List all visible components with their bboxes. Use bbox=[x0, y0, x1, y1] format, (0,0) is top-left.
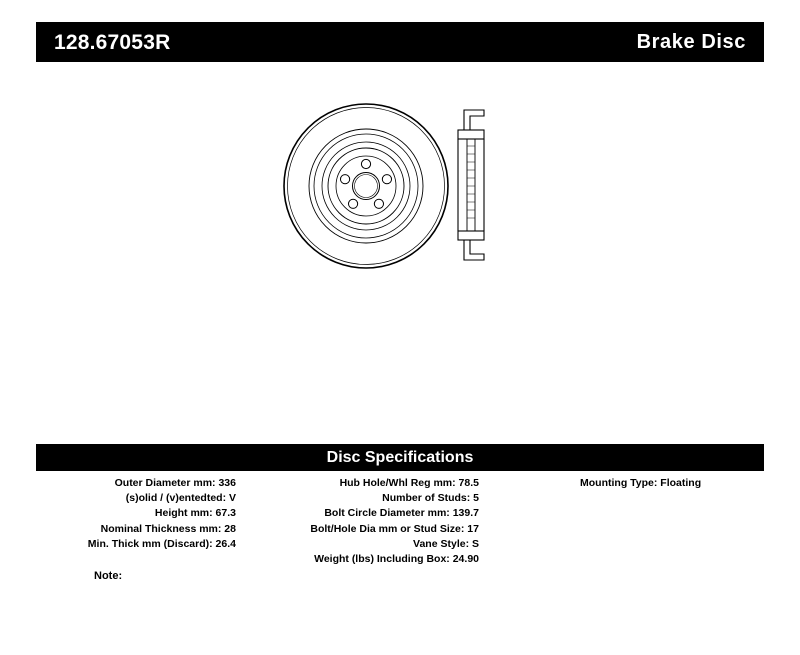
product-drawing bbox=[280, 100, 540, 290]
spec-weight: Weight (lbs) Including Box: 24.90 bbox=[244, 552, 479, 567]
spec-bolt-hole-dia: Bolt/Hole Dia mm or Stud Size: 17 bbox=[244, 522, 479, 537]
specs-title: Disc Specifications bbox=[327, 450, 474, 466]
spec-vane-style: Vane Style: S bbox=[244, 537, 479, 552]
specs-header-bar: Disc Specifications bbox=[36, 444, 764, 471]
spec-number-of-studs: Number of Studs: 5 bbox=[244, 491, 479, 506]
spec-hub-hole: Hub Hole/Whl Reg mm: 78.5 bbox=[244, 476, 479, 491]
specs-column-middle: Hub Hole/Whl Reg mm: 78.5 Number of Stud… bbox=[244, 476, 479, 567]
specs-column-left: Outer Diameter mm: 336 (s)olid / (v)ente… bbox=[36, 476, 236, 552]
spec-height: Height mm: 67.3 bbox=[36, 506, 236, 521]
rotor-edge-view bbox=[458, 110, 484, 260]
spec-solid-vented: (s)olid / (v)entedted: V bbox=[36, 491, 236, 506]
spec-nominal-thickness: Nominal Thickness mm: 28 bbox=[36, 522, 236, 537]
spec-mounting-type: Mounting Type: Floating bbox=[580, 476, 764, 491]
specs-column-right: Mounting Type: Floating bbox=[506, 476, 764, 491]
rotor-face-view bbox=[284, 104, 448, 268]
spec-outer-diameter: Outer Diameter mm: 336 bbox=[36, 476, 236, 491]
spec-bolt-circle-diameter: Bolt Circle Diameter mm: 139.7 bbox=[244, 506, 479, 521]
spec-min-thickness: Min. Thick mm (Discard): 26.4 bbox=[36, 537, 236, 552]
part-number: 128.67053R bbox=[54, 32, 170, 53]
header-bar: 128.67053R Brake Disc bbox=[36, 22, 764, 62]
product-type-label: Brake Disc bbox=[637, 32, 746, 52]
note-label: Note: bbox=[94, 570, 122, 582]
